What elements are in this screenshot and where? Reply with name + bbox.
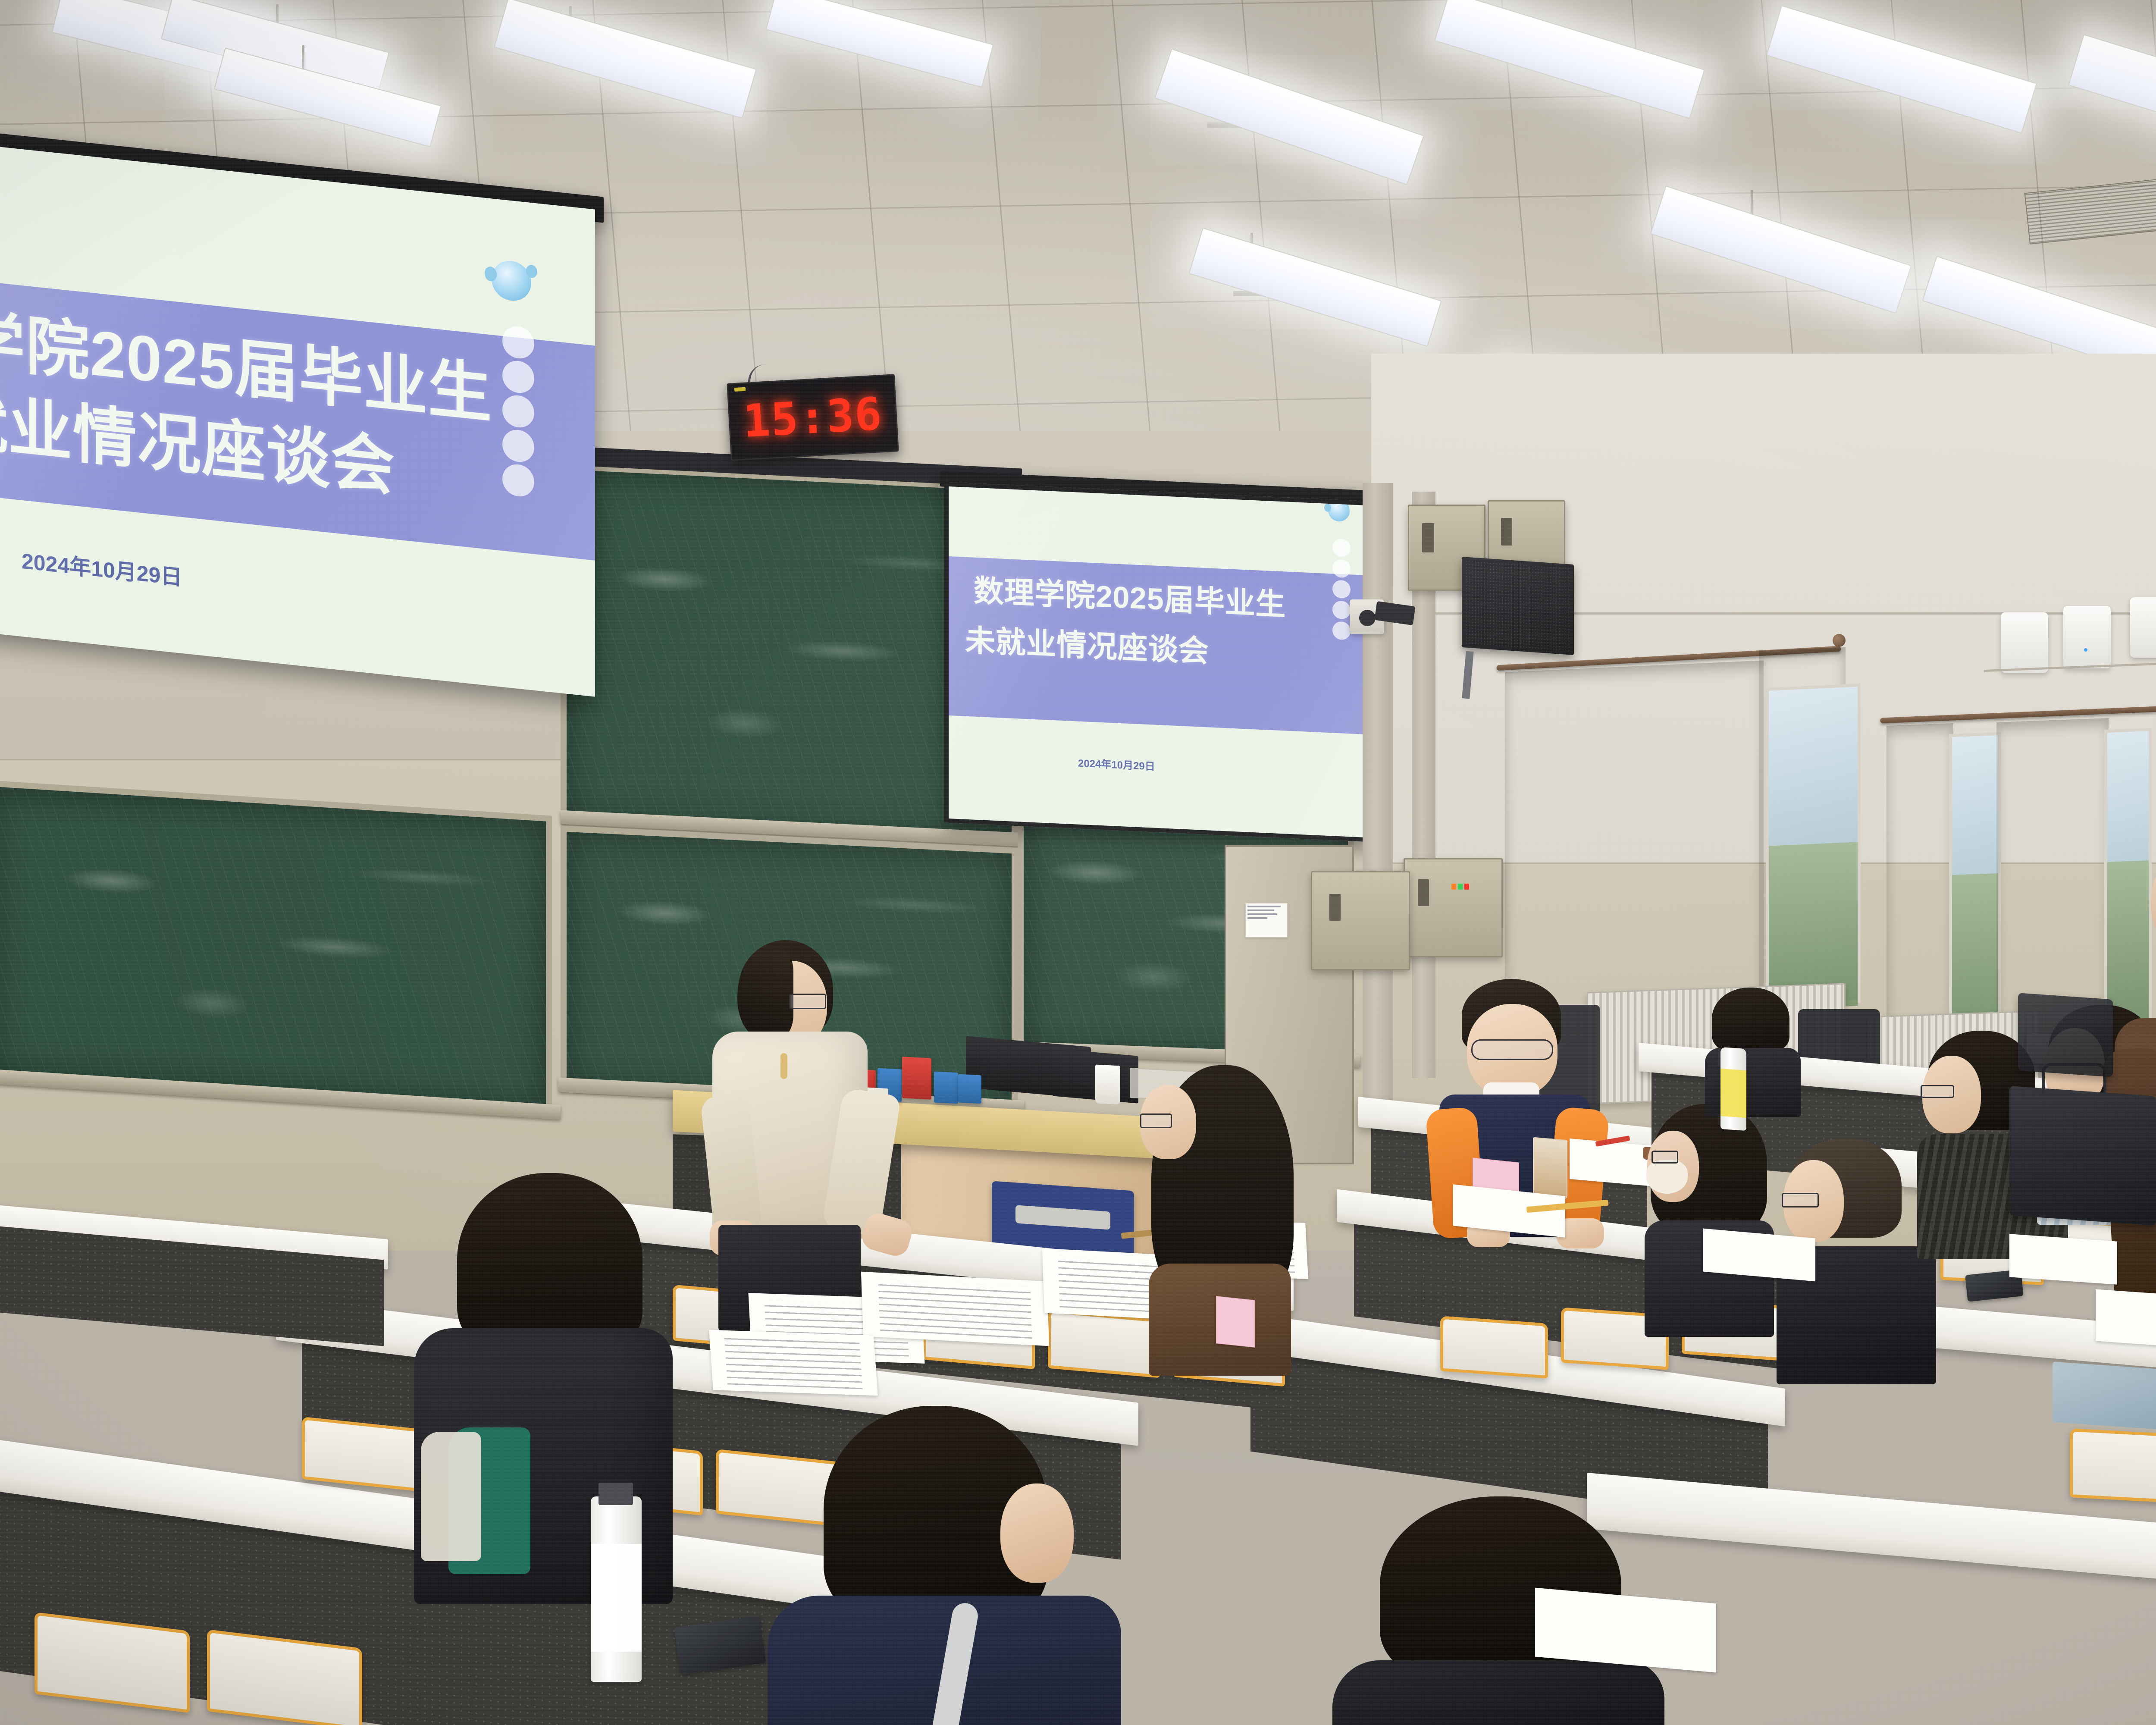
clock-time: 15:36 — [742, 387, 884, 448]
door-notice — [1245, 903, 1288, 938]
drink-cup — [1533, 1137, 1567, 1201]
handout-papers[interactable] — [709, 1330, 878, 1396]
panelist-glasses — [1471, 1039, 1553, 1060]
presenter-glasses — [789, 994, 826, 1009]
projector-screen-left: 学院2025届毕业生 就业情况座谈会 2024年10月29日 — [0, 144, 595, 696]
wifi-access-point — [2001, 612, 2048, 673]
person-student-mask — [1639, 1104, 1781, 1328]
digital-wall-clock: 15:36 — [727, 374, 899, 461]
slide-icon-column — [1332, 538, 1351, 640]
floor-cabinet — [1311, 871, 1410, 970]
chalkboard-left-lower — [0, 780, 552, 1117]
window-curtain[interactable] — [1887, 723, 1953, 1054]
auditorium-chair[interactable] — [2070, 1428, 2156, 1504]
slide-date: 2024年10月29日 — [1078, 755, 1155, 773]
paper-cup — [1095, 1064, 1120, 1104]
necklace — [780, 1053, 787, 1079]
student-bag — [421, 1432, 481, 1561]
chalk-box-blue — [958, 1074, 981, 1104]
water-bottle[interactable] — [1720, 1047, 1746, 1131]
chalk-box-blue — [934, 1072, 958, 1104]
chalk-box-red — [902, 1057, 931, 1100]
paper-sheet[interactable] — [2009, 1234, 2117, 1284]
handout-papers[interactable] — [861, 1272, 1049, 1346]
student-glasses — [1140, 1113, 1172, 1128]
mascot-icon — [1328, 499, 1350, 522]
window — [1766, 684, 1861, 1007]
wall-pillar — [1363, 483, 1393, 1108]
mascot-icon — [492, 259, 531, 303]
auditorium-chair[interactable] — [1440, 1316, 1548, 1378]
slide-date: 2024年10月29日 — [22, 544, 182, 592]
person-background-left — [1703, 988, 1802, 1117]
magazine[interactable] — [2053, 1361, 2156, 1433]
student-hair — [457, 1173, 642, 1354]
person-student-front-navy — [733, 1406, 1121, 1725]
water-bottle[interactable] — [591, 1496, 642, 1682]
slide-icon-column — [502, 325, 534, 498]
shoulder-bag[interactable] — [2009, 1086, 2156, 1226]
shoulder-bag[interactable] — [2018, 993, 2113, 1077]
face-mask — [1646, 1160, 1688, 1194]
person-presenter — [703, 940, 893, 1328]
wall-speaker — [1462, 557, 1574, 655]
floor-cabinet — [1404, 858, 1503, 957]
bottle-cap — [599, 1483, 633, 1505]
projector-screen-right: 数理学院2025届毕业生 未就业情况座谈会 2024年10月29日 — [944, 482, 1371, 842]
lecture-hall-photo: 学院2025届毕业生 就业情况座谈会 2024年10月29日 数理学院2025届… — [0, 0, 2156, 1725]
name-card — [1216, 1296, 1255, 1347]
wifi-access-point — [2063, 606, 2111, 668]
wifi-access-point — [2130, 597, 2156, 658]
window — [1949, 732, 2001, 1036]
window-curtain[interactable] — [1505, 660, 1764, 1034]
paper-sheet[interactable] — [2096, 1289, 2156, 1350]
